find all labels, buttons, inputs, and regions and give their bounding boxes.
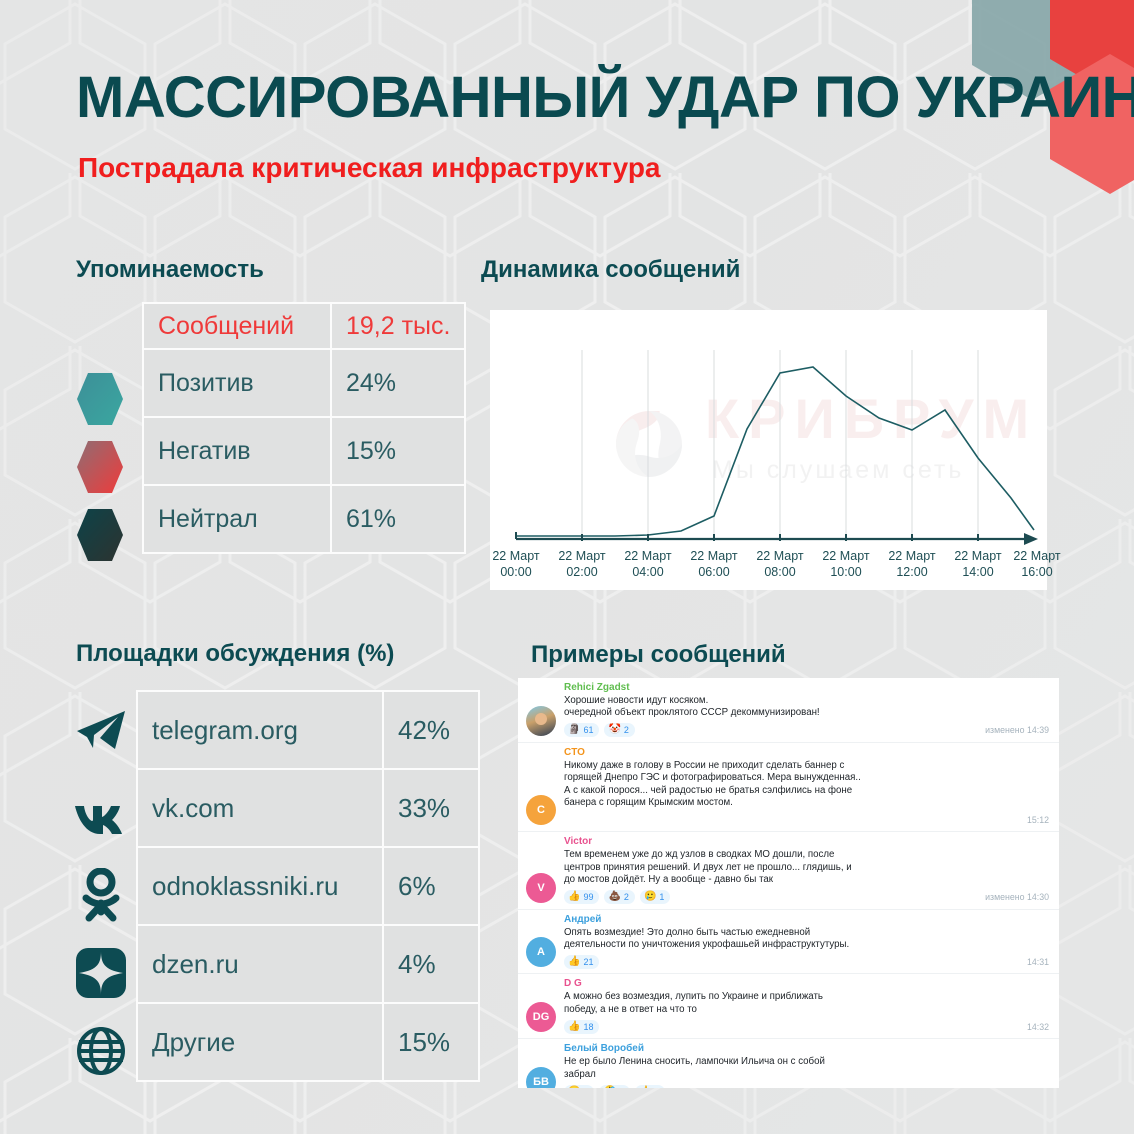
page-title: МАССИРОВАННЫЙ УДАР ПО УКРАИНЕ	[76, 64, 1134, 131]
platform-value: 4%	[383, 925, 479, 1003]
message-text-line: Не ер было Ленина сносить, лампочки Ильи…	[564, 1056, 1049, 1068]
reaction-emoji-icon: 👍	[568, 1021, 580, 1033]
x-axis-tick: 22 Март08:00	[745, 548, 815, 580]
reaction-emoji-icon: 👍	[639, 1086, 651, 1088]
table-row: Сообщений 19,2 тыс.	[143, 303, 465, 349]
x-axis-tick: 22 Март04:00	[613, 548, 683, 580]
message-author: Белый Воробей	[564, 1042, 1049, 1056]
reaction-emoji-icon: 🤡	[608, 724, 620, 736]
platform-label: Другие	[137, 1003, 383, 1081]
message-timestamp: изменено 14:39	[985, 725, 1049, 735]
reaction-count: 6	[583, 1086, 588, 1088]
reaction-count: 21	[583, 956, 593, 968]
reaction-count: 2	[624, 724, 629, 736]
reaction-badge[interactable]: 😁6	[564, 1085, 594, 1088]
message-timestamp: 14:32	[1027, 1022, 1049, 1032]
reaction-count: 18	[583, 1021, 593, 1033]
reaction-badge[interactable]: 👍99	[564, 890, 599, 904]
table-row: Негатив 15%	[143, 417, 465, 485]
message-timestamp: изменено 14:30	[985, 892, 1049, 902]
hexagon-dark-icon	[76, 508, 124, 562]
table-row: dzen.ru 4%	[137, 925, 479, 1003]
message-author: Victor	[564, 835, 1049, 849]
reaction-badge[interactable]: 🤣4	[599, 1085, 629, 1088]
reaction-count: 61	[583, 724, 593, 736]
message-footer: 👍1814:32	[564, 1019, 1049, 1034]
mentions-value: 19,2 тыс.	[331, 303, 465, 349]
platform-label: telegram.org	[137, 691, 383, 769]
avatar: C	[526, 795, 556, 825]
message-footer: 🗿61🤡2изменено 14:39	[564, 723, 1049, 738]
dynamics-chart-panel: КРИБРУМ Мы слушаем сеть	[490, 310, 1047, 590]
reaction-badge[interactable]: 🤡2	[604, 723, 634, 737]
avatar: V	[526, 873, 556, 903]
mentions-table: Сообщений 19,2 тыс. Позитив 24% Негатив …	[142, 302, 466, 554]
dzen-icon	[74, 946, 128, 1000]
message-text-line: победу, а не в ответ на что то	[564, 1004, 1049, 1016]
reaction-count: 1	[654, 1086, 659, 1088]
message-timestamp: 15:12	[1027, 815, 1049, 825]
mentions-value: 15%	[331, 417, 465, 485]
message-footer: 😁6🤣4👍114:50	[564, 1084, 1049, 1088]
table-row: Позитив 24%	[143, 349, 465, 417]
reaction-emoji-icon: 🥲	[644, 891, 656, 903]
section-title-platforms: Площадки обсуждения (%)	[76, 640, 394, 668]
message-text-line: забрал	[564, 1069, 1049, 1081]
table-row: odnoklassniki.ru 6%	[137, 847, 479, 925]
x-axis-tick: 22 Март12:00	[877, 548, 947, 580]
message-author: D G	[564, 977, 1049, 991]
telegram-icon	[74, 704, 128, 758]
reaction-count: 99	[583, 891, 593, 903]
message-text-line: горящей Днепро ГЭС и фотографироваться. …	[564, 772, 1049, 784]
hexagon-teal-icon	[76, 372, 124, 426]
message-text-line: до мостов дойдёт. Ну а вообще - давно бы…	[564, 874, 1049, 886]
x-axis-tick: 22 Март00:00	[481, 548, 551, 580]
section-title-mentions: Упоминаемость	[76, 256, 264, 284]
chart-x-axis	[516, 532, 1038, 545]
svg-text:КРИБРУМ: КРИБРУМ	[705, 387, 1038, 450]
x-axis-tick: 22 Март06:00	[679, 548, 749, 580]
chat-message: Rehici ZgadstХорошие новости идут косяко…	[518, 678, 1059, 742]
table-row: vk.com 33%	[137, 769, 479, 847]
message-footer: 15:12	[564, 812, 1049, 827]
reaction-count: 1	[659, 891, 664, 903]
mentions-label: Позитив	[143, 349, 331, 417]
reaction-emoji-icon: 💩	[608, 891, 620, 903]
message-text-line: Опять возмездие! Это долно быть частью е…	[564, 927, 1049, 939]
reaction-emoji-icon: 🗿	[568, 724, 580, 736]
platform-value: 6%	[383, 847, 479, 925]
reaction-badge[interactable]: 👍1	[635, 1085, 665, 1088]
watermark: КРИБРУМ Мы слушаем сеть	[616, 387, 1038, 484]
vk-icon	[74, 788, 128, 842]
message-text-line: деятельности по уничтожения укрофашьей и…	[564, 939, 1049, 951]
mentions-value: 24%	[331, 349, 465, 417]
chat-message: CCTOНикому даже в голову в России не при…	[518, 742, 1059, 832]
chat-message: DGD GА можно без возмездия, лупить по Ук…	[518, 973, 1059, 1038]
platform-label: vk.com	[137, 769, 383, 847]
hexagon-red-icon	[76, 440, 124, 494]
section-title-examples: Примеры сообщений	[531, 641, 786, 669]
reaction-badge[interactable]: 🗿61	[564, 723, 599, 737]
reaction-count: 4	[619, 1086, 624, 1088]
message-examples-panel: Rehici ZgadstХорошие новости идут косяко…	[518, 678, 1059, 1088]
message-text-line: банера с горящим Крымским мостом.	[564, 797, 1049, 809]
x-axis-tick: 22 Март02:00	[547, 548, 617, 580]
platform-value: 33%	[383, 769, 479, 847]
reaction-emoji-icon: 🤣	[603, 1086, 615, 1088]
avatar: БВ	[526, 1067, 556, 1088]
section-title-dynamics: Динамика сообщений	[481, 256, 740, 284]
avatar: A	[526, 937, 556, 967]
message-footer: 👍2114:31	[564, 954, 1049, 969]
reaction-badge[interactable]: 👍18	[564, 1020, 599, 1034]
mentions-label: Сообщений	[143, 303, 331, 349]
message-author: Rehici Zgadst	[564, 681, 1049, 695]
reaction-emoji-icon: 😁	[568, 1086, 580, 1088]
x-axis-tick: 22 Март10:00	[811, 548, 881, 580]
avatar: DG	[526, 1002, 556, 1032]
reaction-badge[interactable]: 💩2	[604, 890, 634, 904]
message-footer: 👍99💩2🥲1изменено 14:30	[564, 890, 1049, 905]
platform-label: dzen.ru	[137, 925, 383, 1003]
message-text-line: центров принятия решений. И двух лет не …	[564, 862, 1049, 874]
globe-icon	[74, 1024, 128, 1078]
table-row: Нейтрал 61%	[143, 485, 465, 553]
reaction-badge[interactable]: 🥲1	[640, 890, 670, 904]
mentions-value: 61%	[331, 485, 465, 553]
chat-message: БВБелый ВоробейНе ер было Ленина сносить…	[518, 1038, 1059, 1088]
message-text-line: Никому даже в голову в России не приходи…	[564, 760, 1049, 772]
table-row: Другие 15%	[137, 1003, 479, 1081]
svg-text:Мы слушаем сеть: Мы слушаем сеть	[712, 456, 964, 484]
reaction-badge[interactable]: 👍21	[564, 955, 599, 969]
message-text-line: Тем временем уже до жд узлов в сводках М…	[564, 849, 1049, 861]
message-text-line: Хорошие новости идут косяком.	[564, 695, 1049, 707]
message-author: CTO	[564, 746, 1049, 760]
mentions-label: Нейтрал	[143, 485, 331, 553]
platform-value: 42%	[383, 691, 479, 769]
odnoklassniki-icon	[74, 868, 128, 922]
reaction-emoji-icon: 👍	[568, 891, 580, 903]
reaction-emoji-icon: 👍	[568, 956, 580, 968]
page-subtitle: Пострадала критическая инфраструктура	[78, 152, 661, 184]
message-text-line: А можно без возмездия, лупить по Украине…	[564, 991, 1049, 1003]
message-author: Андрей	[564, 913, 1049, 927]
platform-value: 15%	[383, 1003, 479, 1081]
x-axis-tick: 22 Март16:00	[1002, 548, 1072, 580]
message-timestamp: 14:50	[1027, 1087, 1049, 1088]
platforms-table: telegram.org 42% vk.com 33% odnoklassnik…	[136, 690, 480, 1082]
mentions-label: Негатив	[143, 417, 331, 485]
platform-label: odnoklassniki.ru	[137, 847, 383, 925]
chat-message: AАндрейОпять возмездие! Это долно быть ч…	[518, 909, 1059, 974]
chat-message: VVictorТем временем уже до жд узлов в св…	[518, 831, 1059, 908]
message-text-line: А с какой порося... чей радостью не брат…	[564, 785, 1049, 797]
avatar	[526, 706, 556, 736]
reaction-count: 2	[624, 891, 629, 903]
message-text-line: очередной объект проклятого СССР декомму…	[564, 707, 1049, 719]
table-row: telegram.org 42%	[137, 691, 479, 769]
message-timestamp: 14:31	[1027, 957, 1049, 967]
